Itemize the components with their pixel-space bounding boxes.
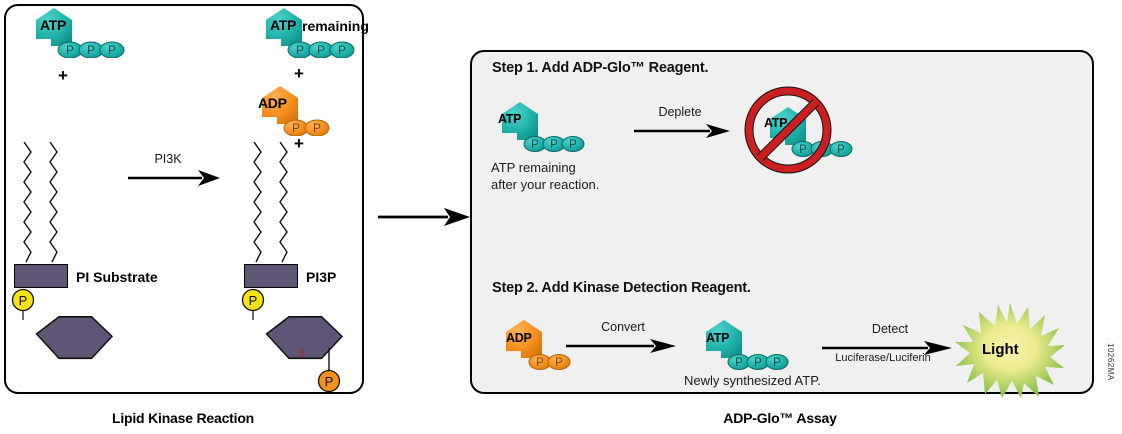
step2-atp-label: ATP: [706, 331, 729, 345]
pi3p-position-number: 3: [299, 348, 305, 360]
svg-text:P: P: [569, 139, 577, 151]
pi-substrate-label: PI Substrate: [76, 269, 158, 285]
step2-atp-note: Newly synthesized ATP.: [684, 372, 821, 389]
reactant-atp-molecule: P P P: [18, 6, 138, 58]
step2-adp-label: ADP: [506, 331, 532, 345]
svg-text:P: P: [735, 357, 743, 369]
deplete-arrow: [634, 122, 730, 140]
product-adp-label: ADP: [258, 95, 287, 111]
svg-text:P: P: [249, 293, 258, 308]
step1-atp-label: ATP: [498, 112, 521, 126]
svg-text:P: P: [108, 43, 116, 57]
svg-text:P: P: [837, 144, 845, 156]
svg-text:P: P: [536, 357, 544, 369]
pi3p-headgroup-box: [244, 264, 298, 288]
deplete-arrow-label: Deplete: [630, 105, 730, 119]
pi-substrate-inositol: P: [10, 286, 120, 386]
detect-arrow-label-top: Detect: [825, 322, 955, 336]
svg-text:P: P: [531, 139, 539, 151]
svg-text:P: P: [87, 43, 95, 57]
svg-text:P: P: [550, 139, 558, 151]
pi3k-arrow: [128, 168, 220, 188]
svg-text:P: P: [555, 357, 563, 369]
svg-text:P: P: [292, 121, 300, 135]
light-output-label: Light: [982, 341, 1019, 358]
svg-text:P: P: [325, 374, 334, 389]
pi3k-arrow-label: PI3K: [128, 152, 208, 166]
right-panel-caption: ADP-Glo™ Assay: [620, 410, 940, 426]
svg-text:P: P: [338, 43, 346, 57]
pi3p-inositol: P P: [240, 286, 360, 394]
step1-note-line2: after your reaction.: [491, 176, 599, 193]
svg-text:P: P: [773, 357, 781, 369]
left-plus-2: +: [294, 64, 304, 84]
detect-arrow-label-bottom: Luciferase/Luciferin: [818, 352, 948, 364]
left-panel-caption: Lipid Kinase Reaction: [20, 410, 346, 426]
pi3p-label: PI3P: [306, 269, 336, 285]
svg-text:P: P: [19, 293, 28, 308]
figure-code: 10262MA: [1106, 343, 1115, 381]
svg-text:P: P: [296, 43, 304, 57]
left-plus-1: +: [58, 66, 68, 86]
step1-title: Step 1. Add ADP-Glo™ Reagent.: [492, 60, 708, 76]
pi-substrate-headgroup-box: [14, 264, 68, 288]
pi-substrate-lipid-tails: [14, 142, 74, 264]
svg-text:P: P: [66, 43, 74, 57]
step2-title: Step 2. Add Kinase Detection Reagent.: [492, 280, 751, 296]
product-atp-label: ATP: [270, 17, 296, 33]
panel-connector-arrow: [378, 206, 470, 228]
prohibition-icon: [740, 82, 836, 178]
svg-text:P: P: [313, 121, 321, 135]
pi3p-lipid-tails: [244, 142, 304, 264]
convert-arrow-label: Convert: [578, 320, 668, 334]
atp-remaining-suffix: remaining: [302, 18, 369, 34]
step1-atp-molecule: P P P: [488, 100, 608, 152]
svg-text:P: P: [317, 43, 325, 57]
convert-arrow: [566, 337, 676, 355]
step1-note-line1: ATP remaining: [491, 159, 576, 176]
reactant-atp-label: ATP: [40, 17, 66, 33]
svg-text:P: P: [754, 357, 762, 369]
